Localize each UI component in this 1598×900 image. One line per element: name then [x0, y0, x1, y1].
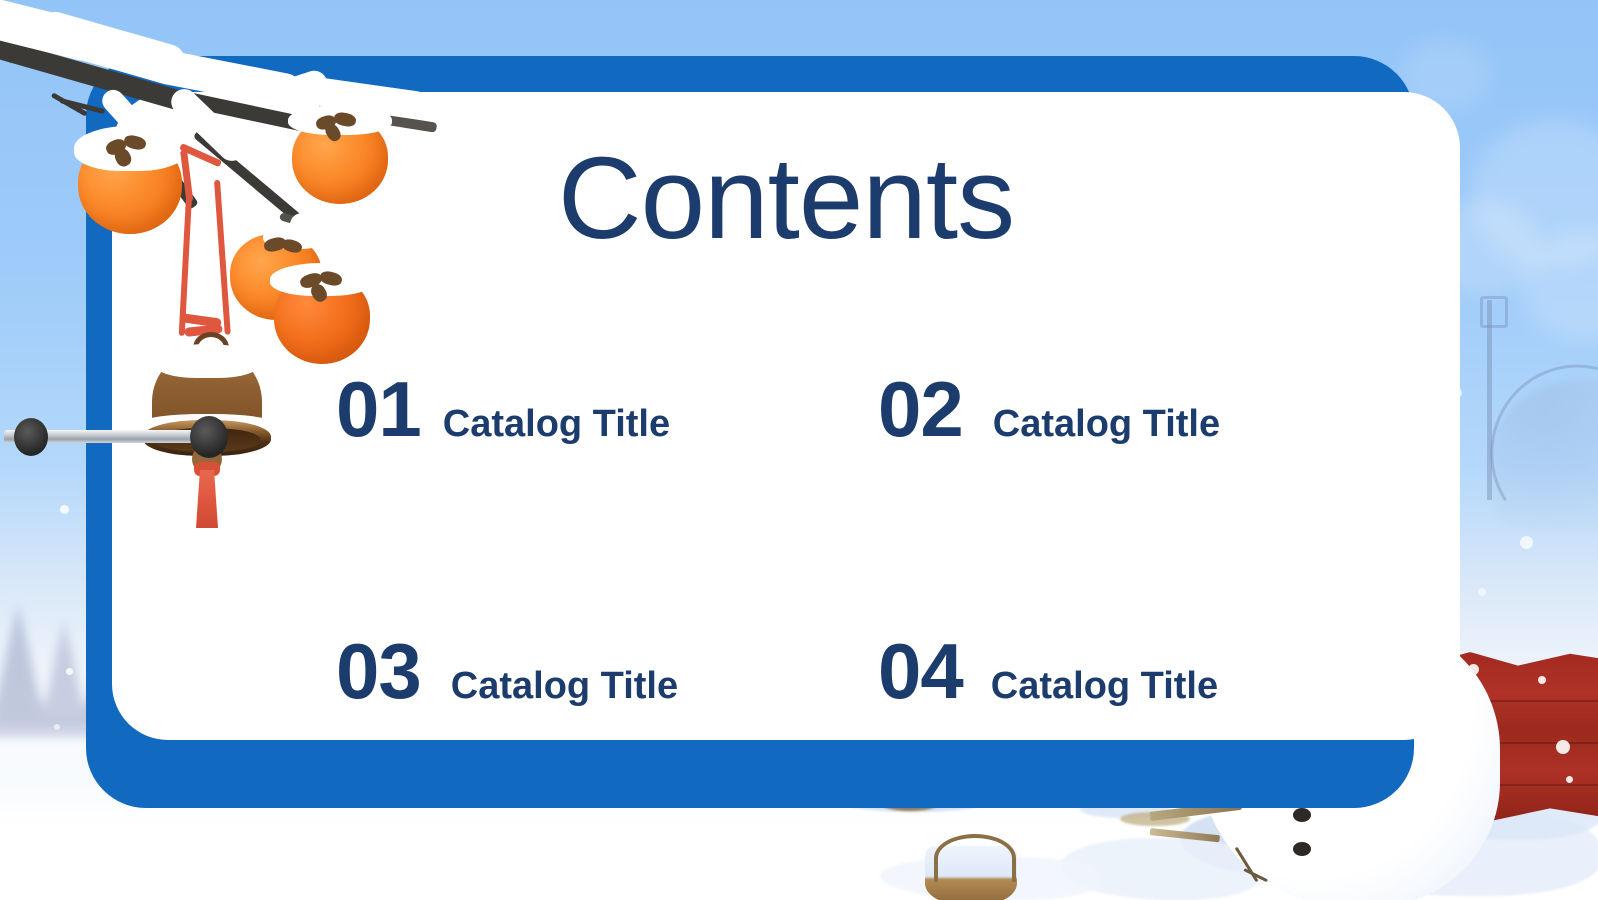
catalog-item-number: 01 [336, 370, 421, 448]
catalog-item-label: Catalog Title [991, 667, 1218, 705]
snowflake-icon [1478, 588, 1486, 596]
catalog-item-03[interactable]: 03 Catalog Title [336, 632, 678, 710]
roof-snow-dot [1538, 676, 1546, 684]
snowflake-icon [1520, 536, 1533, 549]
page-title: Contents [112, 140, 1460, 256]
catalog-item-04[interactable]: 04 Catalog Title [878, 632, 1218, 710]
snowman-button-icon [1293, 842, 1311, 856]
catalog-item-label: Catalog Title [451, 667, 678, 705]
catalog-item-label: Catalog Title [443, 405, 670, 443]
pine-tree-icon [0, 604, 44, 716]
catalog-list: 01 Catalog Title 02 Catalog Title 03 Cat… [112, 340, 1460, 760]
roof-snow-dot [1566, 776, 1573, 783]
catalog-item-number: 04 [878, 632, 963, 710]
roof-snow-dot [1556, 740, 1570, 754]
snowflake-icon [54, 724, 60, 730]
snowflake-icon [66, 668, 73, 675]
pine-tree-icon [42, 621, 86, 716]
catalog-item-label: Catalog Title [993, 405, 1220, 443]
catalog-item-01[interactable]: 01 Catalog Title [336, 370, 670, 448]
catalog-item-02[interactable]: 02 Catalog Title [878, 370, 1220, 448]
snow-basket-handle [934, 834, 1016, 882]
catalog-item-number: 03 [336, 632, 421, 710]
snowflake-icon [60, 505, 69, 514]
catalog-item-number: 02 [878, 370, 963, 448]
slide-canvas: Contents 01 Catalog Title 02 Catalog Tit… [0, 0, 1598, 900]
house-lantern-box [1480, 296, 1508, 328]
snowman-button-icon [1293, 808, 1311, 822]
house-pole [1487, 300, 1492, 500]
